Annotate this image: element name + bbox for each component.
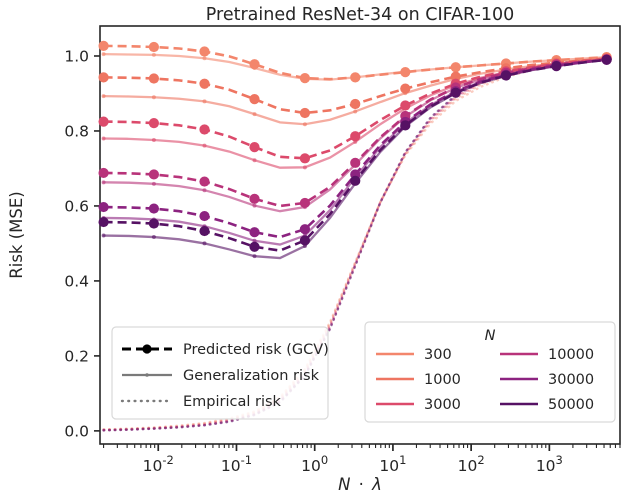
legend-style-swatch-dot [145,373,149,377]
x-axis-label: N · λ [338,475,382,494]
legend-n-label: 50000 [548,397,594,413]
x-tick-label: 102 [458,453,485,475]
predicted-risk-gcv-marker [199,226,209,236]
generalization-risk-marker [102,94,106,98]
generalization-risk-marker [102,234,106,238]
y-tick-label: 0.2 [64,347,89,365]
x-tick-exponent: 1 [399,453,406,467]
predicted-risk-gcv-marker [451,62,461,72]
x-tick-label: 101 [379,453,406,475]
x-tick-label: 103 [536,453,563,475]
generalization-risk-marker [102,180,106,184]
predicted-risk-gcv-marker [350,176,360,186]
predicted-risk-gcv-marker [149,203,159,213]
legend-style-label: Predicted risk (GCV) [183,342,329,358]
generalization-risk-marker [202,241,206,245]
predicted-risk-gcv-marker [249,227,259,237]
y-axis-ticks: 0.00.20.40.60.81.0 [64,47,100,440]
generalization-risk-marker [102,52,106,56]
predicted-risk-gcv-marker [400,120,410,130]
predicted-risk-gcv-marker [98,168,108,178]
legend-n-label: 3000 [424,397,461,413]
predicted-risk-gcv-marker [350,158,360,168]
chart-svg: Pretrained ResNet-34 on CIFAR-100 0.00.2… [0,0,630,498]
generalization-risk-marker [253,254,257,258]
legend-n-label: 30000 [548,372,594,388]
predicted-risk-gcv-marker [249,242,259,252]
predicted-risk-gcv-marker [98,217,108,227]
predicted-risk-gcv-marker [98,72,108,82]
predicted-risk-gcv-marker [149,169,159,179]
x-axis-ticks: 10-210-1100101102103 [143,444,563,475]
x-tick-exponent: 0 [321,453,328,467]
generalization-risk-marker [202,99,206,103]
predicted-risk-gcv-marker [300,108,310,118]
x-tick-exponent: 2 [477,453,484,467]
predicted-risk-gcv-marker [501,70,511,80]
x-tick-mantissa: 10 [536,457,556,475]
predicted-risk-gcv-marker [602,55,612,65]
predicted-risk-gcv-marker [249,59,259,69]
generalization-risk-marker [152,182,156,186]
x-tick-label: 10-2 [143,453,174,475]
legend-style-swatch-marker [142,344,151,353]
predicted-risk-gcv-marker [300,153,310,163]
predicted-risk-gcv-marker [350,99,360,109]
predicted-risk-gcv-marker [300,198,310,208]
page-title: Pretrained ResNet-34 on CIFAR-100 [206,5,514,25]
generalization-risk-marker [152,53,156,57]
predicted-risk-gcv-marker [350,72,360,82]
generalization-risk-marker [202,188,206,192]
predicted-risk-gcv-marker [199,211,209,221]
predicted-risk-gcv-marker [149,73,159,83]
predicted-risk-gcv-marker [350,131,360,141]
generalization-risk-marker [253,204,257,208]
predicted-risk-gcv-marker [551,61,561,71]
x-tick-mantissa: 10 [143,457,163,475]
generalization-risk-marker [303,165,307,169]
generalization-risk-marker [202,56,206,60]
x-axis-label-lambda: λ [371,475,382,494]
predicted-risk-gcv-marker [98,41,108,51]
legend-style-label: Generalization risk [183,368,320,384]
figure: Pretrained ResNet-34 on CIFAR-100 0.00.2… [0,0,630,498]
x-tick-mantissa: 10 [301,457,321,475]
x-tick-exponent: -1 [241,453,252,467]
predicted-risk-gcv-marker [400,84,410,94]
predicted-risk-gcv-marker [300,73,310,83]
generalization-risk-marker [152,235,156,239]
generalization-risk-marker [152,95,156,99]
generalization-risk-marker [353,109,357,113]
x-tick-mantissa: 10 [458,457,478,475]
predicted-risk-gcv-marker [400,67,410,77]
y-tick-label: 1.0 [64,47,89,65]
legend-line-styles[interactable]: Predicted risk (GCV)Generalization riskE… [112,327,329,419]
legend-n-label: 1000 [424,372,461,388]
predicted-risk-gcv-marker [199,79,209,89]
x-tick-exponent: 3 [556,453,563,467]
predicted-risk-gcv-marker [400,100,410,110]
generalization-risk-marker [152,138,156,142]
y-tick-label: 0.6 [64,197,89,215]
x-tick-exponent: -2 [162,453,173,467]
predicted-risk-gcv-marker [149,118,159,128]
legend-n-label: 10000 [548,347,594,363]
y-tick-label: 0.0 [64,422,89,440]
x-axis-label-n: N [338,475,350,494]
generalization-risk-marker [202,144,206,148]
predicted-risk-gcv-marker [249,194,259,204]
predicted-risk-gcv-marker [249,142,259,152]
predicted-risk-gcv-marker [98,116,108,126]
y-axis-label: Risk (MSE) [7,191,26,278]
generalization-risk-marker [253,112,257,116]
generalization-risk-marker [253,158,257,162]
predicted-risk-gcv-marker [199,46,209,56]
predicted-risk-gcv-marker [98,202,108,212]
predicted-risk-gcv-marker [300,235,310,245]
predicted-risk-gcv-marker [199,124,209,134]
x-tick-label: 10-1 [221,453,252,475]
predicted-risk-gcv-marker [249,94,259,104]
predicted-risk-gcv-marker [300,224,310,234]
predicted-risk-gcv-marker [199,176,209,186]
y-tick-label: 0.4 [64,272,89,290]
legend-n-label: 300 [424,347,452,363]
x-axis-label-dot: · [359,475,364,494]
x-tick-label: 100 [301,453,328,475]
x-tick-mantissa: 10 [379,457,399,475]
generalization-risk-marker [303,122,307,126]
generalization-risk-marker [102,136,106,140]
y-tick-label: 0.8 [64,122,89,140]
legend-n[interactable]: N 30010003000100003000050000 [365,322,615,422]
legend-n-title: N [485,328,496,344]
x-tick-mantissa: 10 [221,457,241,475]
predicted-risk-gcv-marker [149,218,159,228]
predicted-risk-gcv-marker [149,42,159,52]
predicted-risk-gcv-marker [451,88,461,98]
legend-style-label: Empirical risk [183,394,282,410]
